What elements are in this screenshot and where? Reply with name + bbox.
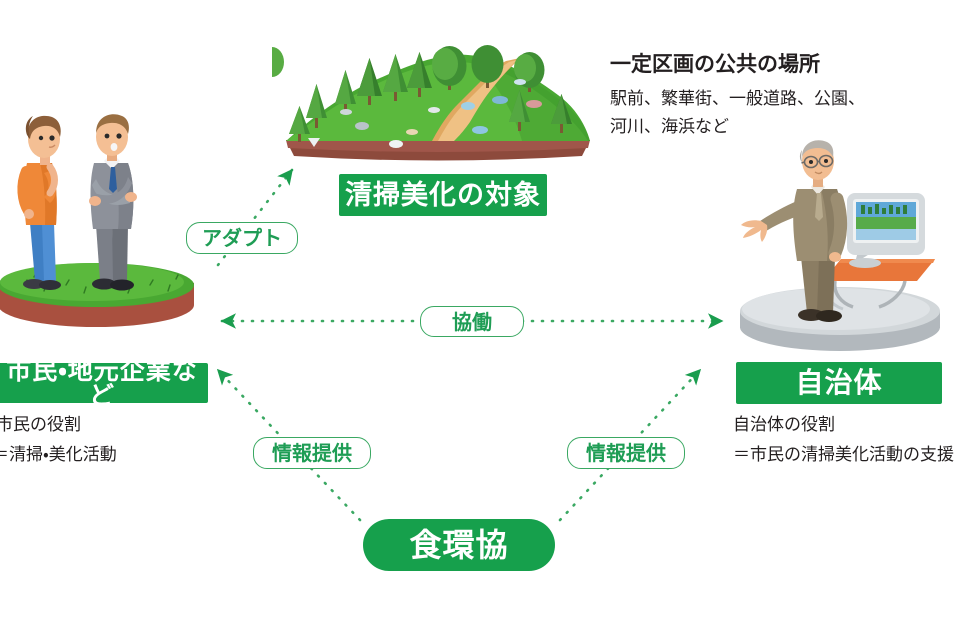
citizens-role-line-1: 市民の役割 (0, 414, 81, 437)
node-label-target[interactable]: 清掃美化の対象 (339, 174, 547, 216)
edge-label-info-left[interactable]: 情報提供 (253, 437, 371, 469)
municipality-role-line-2: ＝市民の清掃美化活動の支援 (733, 444, 954, 467)
official-with-computer-illustration (735, 135, 950, 355)
public-place-line-1: 駅前、繁華街、一般道路、公園、 (610, 88, 865, 111)
green-hill-island-svg (272, 22, 602, 172)
woman-figure (22, 116, 61, 290)
diagram-canvas: 清掃美化の対象 市民・地元企業など 自治体 食環協 アダプト 協働 情報提供 情… (0, 0, 960, 640)
edge-label-cooperation[interactable]: 協働 (420, 306, 524, 337)
node-label-association[interactable]: 食環協 (363, 519, 555, 571)
edge-label-adapt[interactable]: アダプト (186, 222, 298, 254)
two-people-on-grass-svg (0, 105, 205, 335)
edge-label-info-right[interactable]: 情報提供 (567, 437, 685, 469)
public-place-heading: 一定区画の公共の場所 (610, 50, 820, 78)
official-with-computer-svg (735, 135, 950, 355)
two-people-on-grass-illustration (0, 105, 205, 335)
public-place-line-2: 河川、海浜など (610, 116, 729, 139)
node-label-citizens[interactable]: 市民・地元企業など (0, 363, 208, 403)
monitor (847, 193, 925, 268)
municipality-role-line-1: 自治体の役割 (733, 414, 835, 437)
node-label-municipality[interactable]: 自治体 (736, 362, 942, 404)
citizens-role-line-2: ＝清掃・美化活動 (0, 444, 117, 467)
green-hill-island-illustration (272, 22, 602, 172)
